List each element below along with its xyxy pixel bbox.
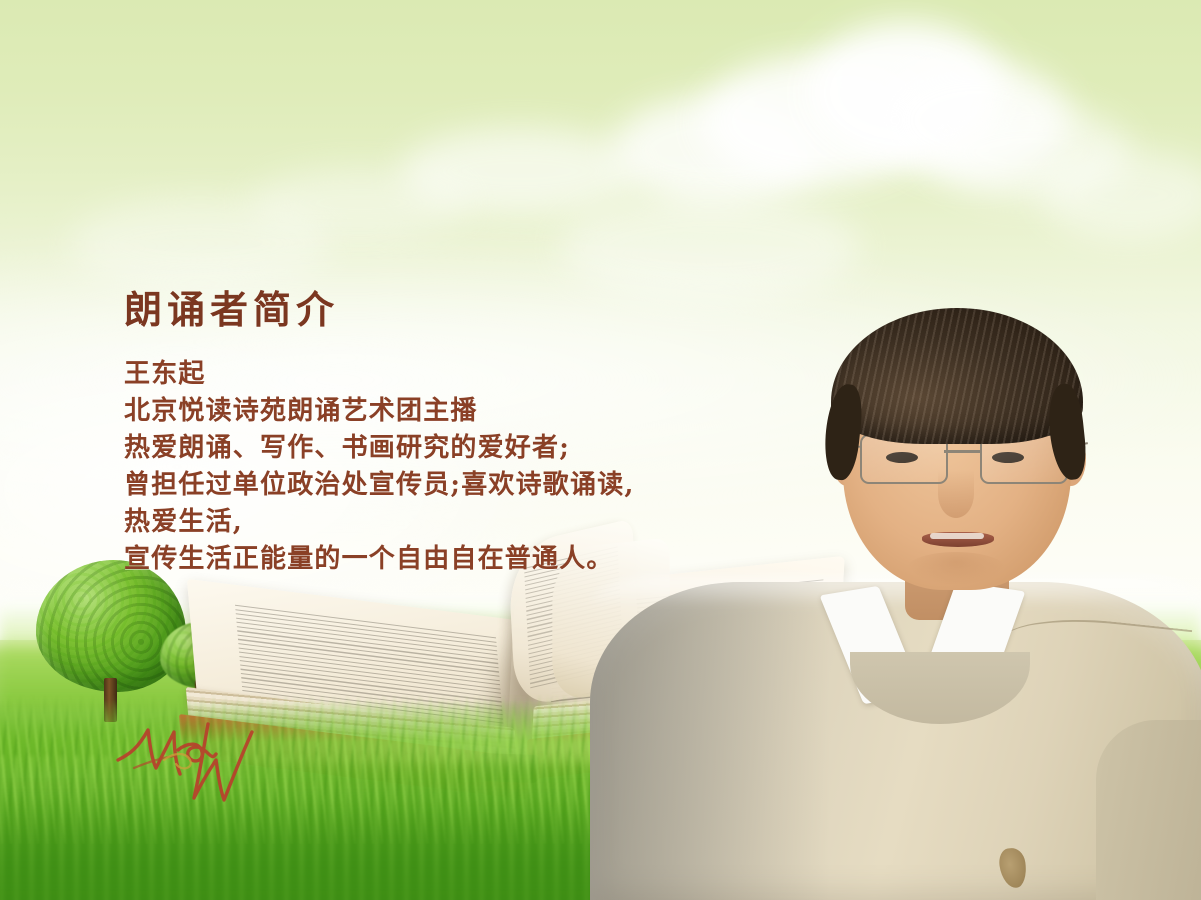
bio-text-block: 朗诵者简介 王东起 北京悦读诗苑朗诵艺术团主播 热爱朗诵、写作、书画研究的爱好者… bbox=[124, 286, 804, 578]
poster-canvas: 朗诵者简介 王东起 北京悦读诗苑朗诵艺术团主播 热爱朗诵、写作、书画研究的爱好者… bbox=[0, 0, 1201, 900]
hair bbox=[831, 308, 1083, 444]
chin-shading bbox=[906, 552, 1006, 586]
teeth bbox=[930, 533, 984, 539]
page-title: 朗诵者简介 bbox=[124, 286, 804, 334]
bio-line-name: 王东起 bbox=[124, 356, 804, 393]
bio-line-affiliation: 北京悦读诗苑朗诵艺术团主播 bbox=[124, 393, 804, 430]
bio-line-lifestyle: 热爱生活, bbox=[124, 504, 804, 541]
bio-line-closing: 宣传生活正能量的一个自由自在普通人。 bbox=[124, 541, 804, 578]
sweater-edge-glow bbox=[588, 576, 1201, 606]
bio-line-interests: 热爱朗诵、写作、书画研究的爱好者; bbox=[124, 430, 804, 467]
glasses-bridge bbox=[944, 450, 980, 453]
bio-line-career: 曾担任过单位政治处宣传员;喜欢诗歌诵读, bbox=[124, 467, 804, 504]
right-shoulder bbox=[1096, 720, 1201, 900]
